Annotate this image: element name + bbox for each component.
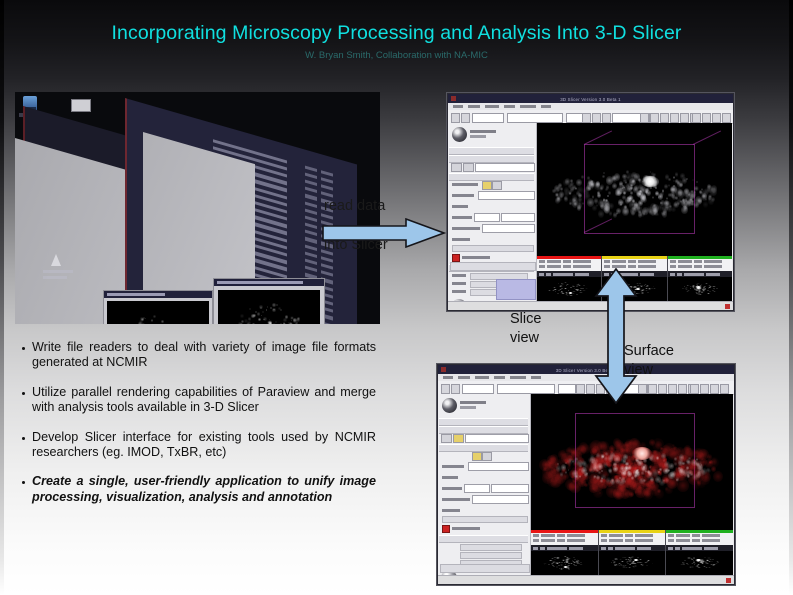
bullet-item: Develop Slicer interface for existing to… [18,430,376,461]
bullet-text: Develop Slicer interface for existing to… [32,430,376,459]
panel2-label-4 [442,487,462,490]
slicer-bottom-slice-panels[interactable] [531,530,733,575]
slicer-bottom-window-buttons[interactable] [711,367,731,371]
panel-color-button[interactable] [482,181,492,190]
panel-section-3[interactable] [449,173,534,181]
slice2-panel-red[interactable] [531,530,599,575]
bullet-list: Write file readers to deal with variety … [18,340,376,505]
panel-slider-1[interactable] [452,245,534,252]
panel-button-3[interactable] [492,181,502,190]
panel2-lower-toolbar[interactable] [440,564,530,573]
slide-canvas: Incorporating Microscopy Processing and … [0,0,793,595]
slicer-top-lower-toolbar[interactable] [450,262,536,271]
slice-view-label: Slice view [510,310,541,348]
neuron-volume-render [531,394,733,530]
slice2-red-image [531,551,598,575]
panel-input-4[interactable] [482,224,535,233]
slice-red-colorbar [537,256,601,259]
slice2-red-controls[interactable] [531,530,598,545]
bullet-item: Utilize parallel rendering capabilities … [18,385,376,416]
panel2-select-1[interactable] [468,462,529,471]
slicer-top-close-icon[interactable] [451,96,456,101]
slicer-bottom-3d-view[interactable] [531,394,733,530]
slicer-bottom-error-icon[interactable] [726,578,731,583]
panel-label-4 [452,216,472,219]
panel2-input-1[interactable] [465,434,529,443]
slicer-bottom-titlebar: 3D Slicer Version 3.0 Beta 1 [438,365,734,374]
slice-green-colorbar [668,256,732,259]
slicer-top-toolbar[interactable] [448,110,733,124]
slicer-top-title: 3D Slicer Version 3.0 Beta 1 [560,97,621,102]
slicer-module-name [470,130,496,133]
image-viewer-window-2 [213,278,325,324]
page-title: Incorporating Microscopy Processing and … [0,22,793,45]
slicer-module-name-2 [460,401,486,404]
desktop-label-2 [43,276,67,279]
slicer-bottom-statusbar [438,575,734,584]
neuron-surface-render [537,123,732,256]
panel-record-indicator [452,254,460,262]
slice2-panel-yellow[interactable] [599,530,667,575]
panel-section-2[interactable] [449,155,534,163]
slicer-top-lavender-panel [496,279,536,300]
slicer-top-statusbar [448,301,733,310]
panel-section-1[interactable] [449,147,534,155]
panel-label-9 [452,282,466,285]
panel-button-2[interactable] [463,163,474,172]
slicer-window-slice-view: 3D Slicer Version 3.0 Beta 1 [447,93,734,311]
slicer-bottom-control-panel[interactable] [438,394,531,583]
panel2-label-3 [442,476,458,479]
slicer-bottom-close-icon[interactable] [441,367,446,372]
panel-label-8 [452,274,466,277]
slicer-module-sub [470,135,486,138]
slicer-logo-icon-2 [442,398,457,413]
slice2-panel-green[interactable] [666,530,733,575]
panel-label-5 [452,227,480,230]
slicer-logo-icon [452,127,467,142]
panel-label-1 [452,183,478,186]
slice-view-label-line2: view [510,329,541,348]
slice-green-image [668,277,732,301]
neuron-image-1 [107,301,209,324]
slice2-yellow-colorbar [599,530,666,533]
slice2-red-colorbar [531,530,598,533]
panel2-label-2 [442,465,464,468]
neuron-image-2 [218,290,320,324]
bullet-text: Utilize parallel rendering capabilities … [32,385,376,414]
slice-panel-green[interactable] [668,256,732,301]
page-subtitle: W. Bryan Smith, Collaboration with NA-MI… [0,50,793,61]
panel-button-1[interactable] [451,163,462,172]
slice2-green-image [666,551,733,575]
read-data-arrow-icon [322,218,446,248]
panel2-input-4[interactable] [472,495,529,504]
bullet-text: Create a single, user-friendly applicati… [32,474,376,503]
panel-label-7 [462,256,490,259]
slicer-bottom-toolbar[interactable] [438,381,734,395]
viewer-1-titlebar [104,291,212,298]
panel2-slider-3[interactable] [460,552,522,559]
panel2-label-7 [452,527,480,530]
desktop-label-1 [43,270,73,273]
flow-label-line1: read data [324,198,385,214]
panel-input-2[interactable] [474,213,500,222]
panel2-button-3[interactable] [482,452,492,461]
bullet-item: Create a single, user-friendly applicati… [18,474,376,505]
slice-red-image [537,277,601,301]
panel2-section-2[interactable] [439,426,528,434]
panel2-input-2[interactable] [464,484,490,493]
panel-label-2 [452,194,474,197]
slicer-window-surface-view: 3D Slicer Version 3.0 Beta 1 [437,364,735,585]
slicer-top-error-icon[interactable] [725,304,730,309]
slice-view-label-line1: Slice [510,310,541,329]
slice-red-controls[interactable] [537,256,601,271]
panel2-section-3[interactable] [439,444,528,452]
slicer-top-window-buttons[interactable] [710,96,730,100]
slice-panel-red[interactable] [537,256,602,301]
bullet-item: Write file readers to deal with variety … [18,340,376,371]
slice2-green-controls[interactable] [666,530,733,545]
slice-green-controls[interactable] [668,256,732,271]
slice2-yellow-image [599,551,666,575]
panel-label-3 [452,205,468,208]
slice-surface-double-arrow-icon [594,268,638,404]
panel2-record-indicator [442,525,450,533]
panel-select-1[interactable] [478,191,535,200]
viewer-2-canvas [218,290,320,324]
panel2-color-button-2[interactable] [472,452,482,461]
slicer-module-sub-2 [460,406,476,409]
desktop-small-window [71,99,91,112]
slicer-top-titlebar: 3D Slicer Version 3.0 Beta 1 [448,94,733,103]
panel2-section-4[interactable] [439,535,528,543]
bullet-text: Write file readers to deal with variety … [32,340,376,369]
panel2-label-6 [442,509,460,512]
panel2-section-1[interactable] [439,418,528,426]
slice-yellow-colorbar [602,256,666,259]
panel2-input-3[interactable] [491,484,529,493]
slice2-green-colorbar [666,530,733,533]
panel2-color-button[interactable] [453,434,464,443]
panel2-slider-2[interactable] [460,544,522,551]
image-viewer-window-1 [103,290,213,324]
panel2-label-5 [442,498,470,501]
panel2-slider-1[interactable] [442,516,528,523]
slicer-top-3d-view[interactable] [537,123,732,256]
viewer-2-titlebar [214,279,324,286]
viewer-1-canvas [107,301,209,324]
panel-input-1[interactable] [475,163,535,172]
panel-label-6 [452,238,470,241]
panel2-button-1[interactable] [441,434,452,443]
slice2-yellow-controls[interactable] [599,530,666,545]
panel-label-10 [452,290,466,293]
panel-input-3[interactable] [501,213,535,222]
